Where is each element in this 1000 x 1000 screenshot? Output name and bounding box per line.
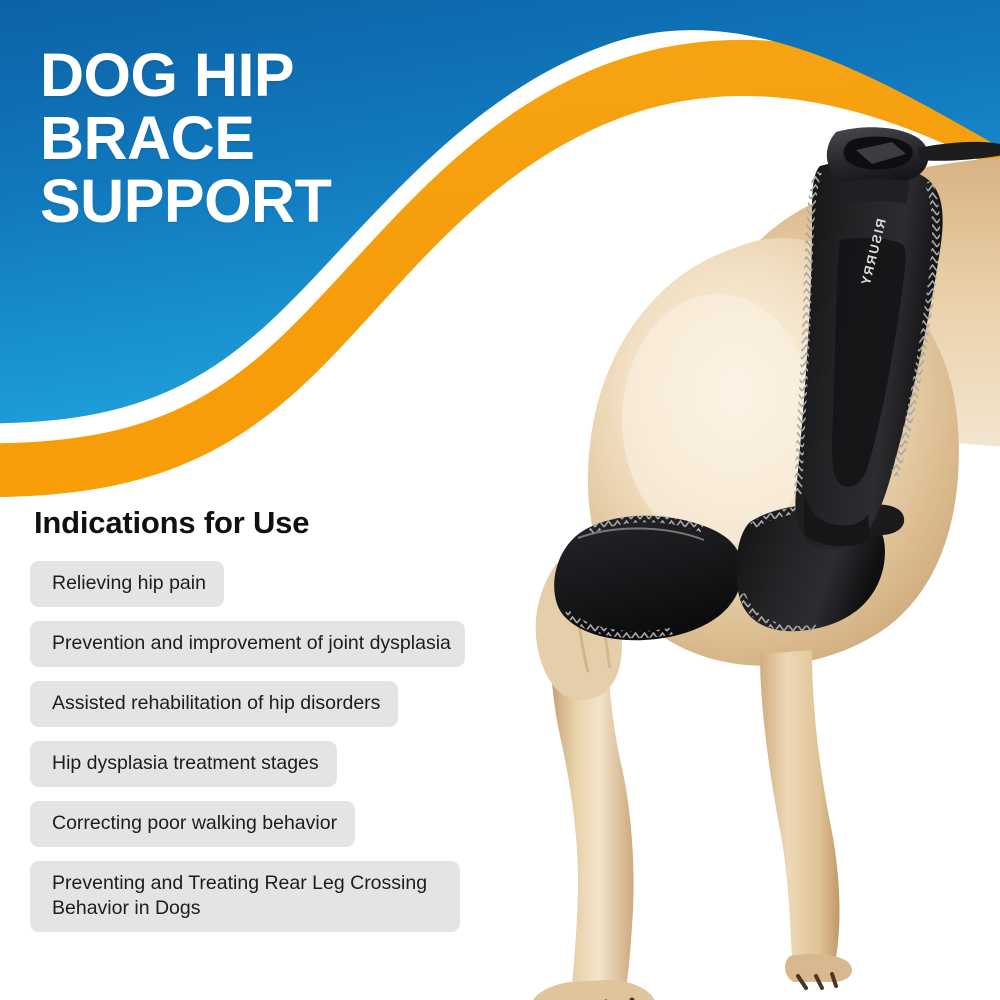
indication-item-2: Prevention and improvement of joint dysp… [30, 621, 465, 667]
dog-near-paw [531, 980, 656, 1000]
indication-item-5: Correcting poor walking behavior [30, 801, 355, 847]
infographic-page: DOG HIP BRACE SUPPORT [0, 0, 1000, 1000]
buckle-webbing [844, 179, 910, 204]
buckle-strap-tail [918, 142, 1000, 161]
indications-section: Indications for Use Relieving hip pain P… [30, 505, 500, 946]
product-photo-dog-wearing-brace: RISURRY [460, 120, 1000, 1000]
indication-item-3: Assisted rehabilitation of hip disorders [30, 681, 398, 727]
indication-item-6: Preventing and Treating Rear Leg Crossin… [30, 861, 460, 932]
indications-heading: Indications for Use [34, 505, 500, 541]
indication-item-4: Hip dysplasia treatment stages [30, 741, 337, 787]
dog-far-hind-leg [760, 650, 839, 958]
indication-item-1: Relieving hip pain [30, 561, 224, 607]
